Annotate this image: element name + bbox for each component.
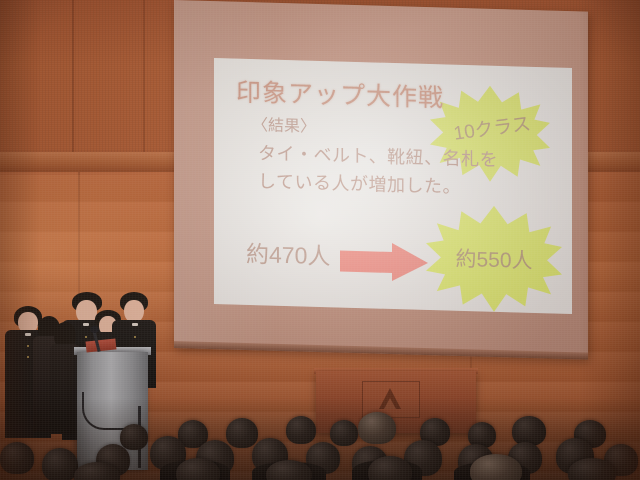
number-after-label: 約550人 <box>438 242 550 275</box>
uniform-button <box>134 336 136 338</box>
uniform-collar <box>132 323 138 326</box>
slide-body-line-1: タイ・ベルト、靴紐、名札を <box>258 139 498 172</box>
uniform-collar <box>83 323 89 326</box>
slide-title: 印象アップ大作戦 <box>236 73 444 115</box>
seated-audience <box>0 398 640 480</box>
arrow-shaft <box>340 251 398 274</box>
audience-head <box>330 420 358 446</box>
audience-head <box>470 454 522 480</box>
wall-panel-seam <box>72 0 74 163</box>
projected-slide: 10クラス 約550人 印象アップ大作戦 〈結果〉 タイ・ベルト、靴紐、名札を … <box>214 58 572 314</box>
right-vignette <box>580 0 640 480</box>
wall-panel-seam <box>143 0 145 163</box>
left-vignette <box>0 0 40 480</box>
right-arrow-icon <box>340 242 428 282</box>
audience-head <box>368 456 412 480</box>
uniform-button <box>85 336 87 338</box>
slide-section-heading: 〈結果〉 <box>252 111 316 137</box>
audience-head <box>286 416 316 444</box>
audience-head <box>120 424 148 450</box>
arrow-head <box>392 243 428 282</box>
assembly-photograph: 10クラス 約550人 印象アップ大作戦 〈結果〉 タイ・ベルト、靴紐、名札を … <box>0 0 640 480</box>
audience-head <box>358 412 396 444</box>
microphone-head <box>90 326 99 333</box>
slide-body-line-2: している人が増加した。 <box>258 167 461 199</box>
number-before-label: 約470人 <box>246 235 330 271</box>
audience-head <box>176 458 220 480</box>
audience-head <box>226 418 258 448</box>
audience-head <box>42 448 78 480</box>
audience-head <box>266 460 312 480</box>
